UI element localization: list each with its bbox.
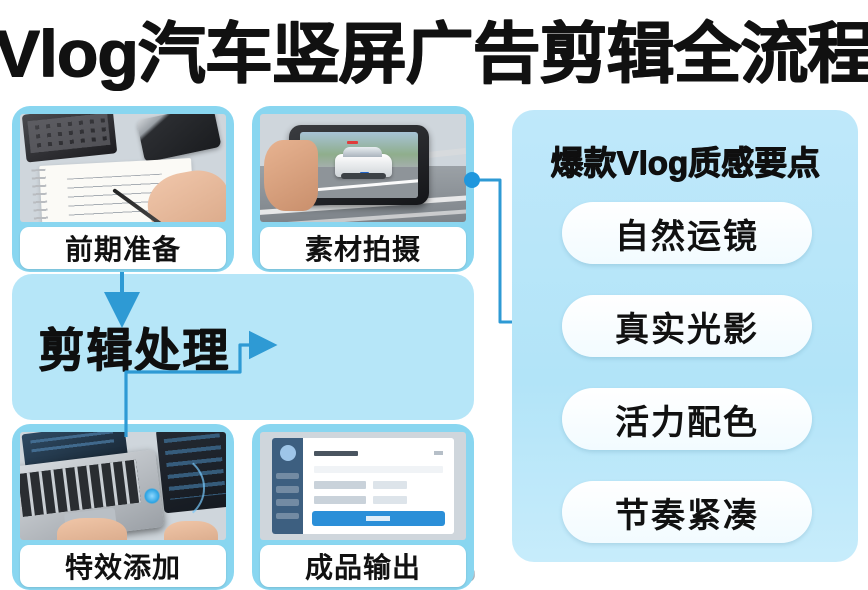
page-title: Vlog汽车竖屏广告剪辑全流程 [0,2,868,94]
license-plate [360,172,369,175]
highlight-pill-real-light[interactable]: 真实光影 [562,295,812,357]
workflow-column: 前期准备 [8,106,478,568]
export-dialog [303,438,453,533]
app-window [272,438,453,533]
keyboard-shape [22,114,117,162]
field-label [314,496,365,504]
sidebar-item [276,486,299,493]
step-card-prep[interactable]: 前期准备 [12,106,234,272]
field-value [373,496,406,504]
avatar [280,445,296,461]
hand-shape [164,521,218,540]
glow-arc-shape [119,451,205,524]
infographic-root: Vlog汽车竖屏广告剪辑全流程 前期准备 [0,0,868,575]
record-indicator-icon [347,141,358,144]
step-card-label: 前期准备 [20,227,226,269]
dialog-input-row [314,466,443,473]
dialog-header [314,449,443,457]
dialog-field-row [314,496,443,504]
close-icon [434,451,443,455]
step-card-export[interactable]: 成品输出 [252,424,474,590]
step-card-label: 成品输出 [260,545,466,587]
highlight-pill-vivid-color[interactable]: 活力配色 [562,388,812,450]
highlights-panel-title: 爆款Vlog质感要点 [512,136,858,184]
phone-screen [300,132,418,198]
highlight-pill-natural-camera[interactable]: 自然运镜 [562,202,812,264]
field-label [314,481,365,489]
step-card-label: 特效添加 [20,545,226,587]
hand-shape [264,140,318,211]
phone-shape [136,114,222,163]
laptop-hands-typing-desk-photo [20,432,226,540]
sidebar-item [276,513,299,520]
hand-shape [57,518,127,540]
edit-stage-label: 剪辑处理 [38,314,230,380]
hand-holding-phone-filming-car-photo [260,114,466,222]
step-card-label: 素材拍摄 [260,227,466,269]
button-label-shape [366,516,390,521]
highlights-panel: 爆款Vlog质感要点 自然运镜 真实光影 活力配色 节奏紧凑 [512,110,858,562]
dialog-title [314,451,358,456]
edit-stage-band: 剪辑处理 [12,274,474,420]
dialog-submit-button [312,511,444,526]
notebook-pen-phone-keyboard-photo [20,114,226,222]
app-sidebar [272,438,303,533]
dialog-field-row [314,481,443,489]
field-value [373,481,406,489]
sidebar-item [276,473,299,480]
sidebar-item [276,499,299,506]
car-shape [335,154,391,176]
step-card-shoot[interactable]: 素材拍摄 [252,106,474,272]
highlight-pill-tight-rhythm[interactable]: 节奏紧凑 [562,481,812,543]
export-dialog-screenshot [260,432,466,540]
glow-dot-icon [144,488,160,504]
step-card-fx[interactable]: 特效添加 [12,424,234,590]
